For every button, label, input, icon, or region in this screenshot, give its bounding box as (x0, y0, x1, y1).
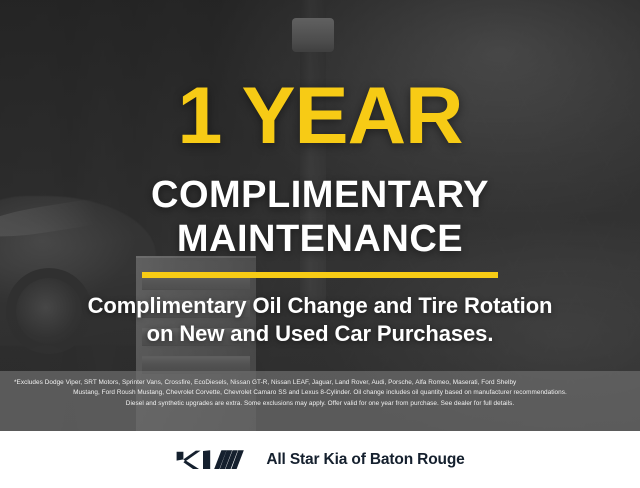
kia-logo (175, 449, 249, 471)
hero-section: 1 YEAR COMPLIMENTARY MAINTENANCE Complim… (0, 0, 640, 431)
promo-line-2: on New and Used Car Purchases. (0, 320, 640, 348)
dealer-name: All Star Kia of Baton Rouge (266, 451, 464, 469)
subheading-complimentary: COMPLIMENTARY (0, 176, 640, 214)
promo-line-1: Complimentary Oil Change and Tire Rotati… (0, 292, 640, 320)
disclaimer-text: *Excludes Dodge Viper, SRT Motors, Sprin… (14, 378, 626, 409)
headline-1-year: 1 YEAR (0, 78, 640, 155)
subheading-maintenance: MAINTENANCE (0, 220, 640, 258)
disclaimer-line-3: Diesel and synthetic upgrades are extra.… (14, 399, 626, 409)
promo-description: Complimentary Oil Change and Tire Rotati… (0, 292, 640, 348)
advertisement-banner: 1 YEAR COMPLIMENTARY MAINTENANCE Complim… (0, 0, 640, 488)
yellow-divider-bar (142, 272, 498, 278)
disclaimer-line-1: *Excludes Dodge Viper, SRT Motors, Sprin… (14, 378, 626, 388)
hero-text-group: 1 YEAR COMPLIMENTARY MAINTENANCE Complim… (0, 0, 640, 431)
footer-bar: All Star Kia of Baton Rouge (0, 431, 640, 488)
disclaimer-line-2: Mustang, Ford Roush Mustang, Chevrolet C… (14, 388, 626, 398)
